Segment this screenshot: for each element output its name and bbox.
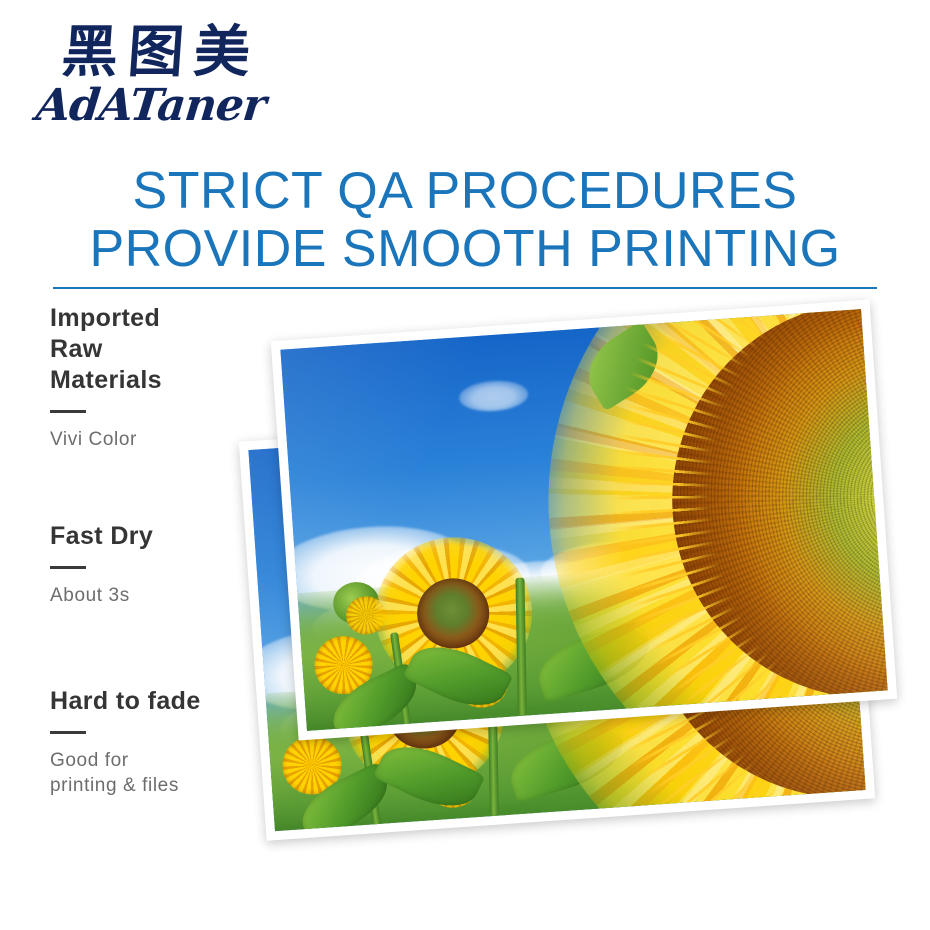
- feature-title: Hard to fade: [50, 686, 265, 717]
- headline-divider: [53, 287, 877, 289]
- feature-title: Imported Raw Materials: [50, 303, 265, 396]
- photo-image-front: [280, 309, 887, 731]
- feature-divider-dash: [50, 566, 86, 569]
- feature-description: Good for printing & files: [50, 748, 265, 798]
- headline: STRICT QA PROCEDURES PROVIDE SMOOTH PRIN…: [0, 162, 930, 278]
- sunflower-scene: [280, 309, 887, 731]
- foreground-sunflower: [527, 309, 888, 731]
- feature-item-fast-dry: Fast Dry About 3s: [50, 521, 265, 608]
- feature-divider-dash: [50, 731, 86, 734]
- promo-banner: 黑图美 AdATaner STRICT QA PROCEDURES PROVID…: [0, 0, 930, 930]
- brand-logo[interactable]: 黑图美 AdATaner: [34, 24, 334, 144]
- feature-item-hard-to-fade: Hard to fade Good for printing & files: [50, 686, 265, 798]
- feature-item-imported-raw-materials: Imported Raw Materials Vivi Color: [50, 303, 265, 452]
- photo-print-front: [271, 300, 897, 741]
- logo-chinese-text: 黑图美: [60, 24, 338, 80]
- feature-divider-dash: [50, 410, 86, 413]
- feature-description: Vivi Color: [50, 427, 265, 452]
- feature-title: Fast Dry: [50, 521, 265, 552]
- logo-latin-text: AdATaner: [34, 84, 339, 128]
- headline-line-1: STRICT QA PROCEDURES: [0, 162, 930, 220]
- feature-description: About 3s: [50, 583, 265, 608]
- headline-line-2: PROVIDE SMOOTH PRINTING: [0, 220, 930, 278]
